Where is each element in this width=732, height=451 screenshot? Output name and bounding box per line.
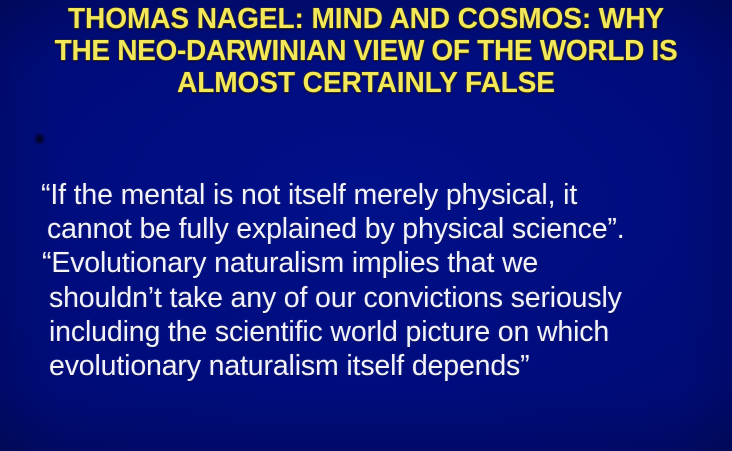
presentation-slide: THOMAS NAGEL: MIND AND COSMOS: WHY THE N… xyxy=(0,0,732,451)
stray-bullet-smudge-icon xyxy=(34,133,45,145)
title-line-3: ALMOST CERTAINLY FALSE xyxy=(5,67,726,99)
quote-line-2: cannot be fully explained by physical sc… xyxy=(41,212,706,246)
slide-body-quote: “If the mental is not itself merely phys… xyxy=(41,178,706,383)
quote-line-3: “Evolutionary naturalism implies that we xyxy=(41,246,706,280)
quote-line-5: including the scientific world picture o… xyxy=(41,315,706,349)
quote-line-6: evolutionary naturalism itself depends” xyxy=(41,349,706,383)
title-line-2: THE NEO-DARWINIAN VIEW OF THE WORLD IS xyxy=(5,35,726,67)
title-line-1: THOMAS NAGEL: MIND AND COSMOS: WHY xyxy=(5,3,726,35)
quote-line-4: shouldn’t take any of our convictions se… xyxy=(41,281,706,315)
quote-line-1: “If the mental is not itself merely phys… xyxy=(41,178,706,212)
slide-title: THOMAS NAGEL: MIND AND COSMOS: WHY THE N… xyxy=(0,3,732,99)
